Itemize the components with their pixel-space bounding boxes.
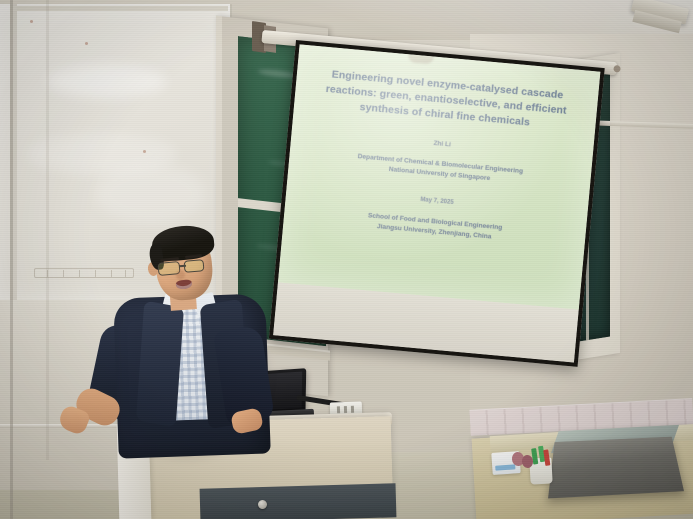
whiteboard-screw — [143, 150, 146, 153]
slide-author: Zhi Li — [433, 140, 451, 149]
slide-content: Engineering novel enzyme-catalysed casca… — [278, 44, 600, 310]
lectern-dark-panel — [200, 483, 397, 519]
presenter-nose — [176, 270, 185, 280]
whiteboard-smudge — [96, 164, 206, 224]
whiteboard-frame-top — [10, 6, 228, 11]
slide-date: May 7, 2025 — [420, 197, 454, 206]
presenter-lapel-left — [136, 301, 184, 428]
eyeglasses-right-lens — [184, 259, 205, 273]
whiteboard-smudge — [46, 64, 166, 98]
slide-affiliation: Department of Chemical & Biomolecular En… — [356, 152, 523, 188]
wall-seam — [10, 0, 13, 519]
lectern-lock-knob — [258, 500, 267, 509]
presenter — [92, 222, 312, 452]
wall-seam — [46, 0, 49, 460]
slide-surface: Engineering novel enzyme-catalysed casca… — [278, 44, 600, 310]
projection-screen: Engineering novel enzyme-catalysed casca… — [269, 40, 605, 367]
lecture-hall-photo: Engineering novel enzyme-catalysed casca… — [0, 0, 693, 519]
whiteboard-screw — [30, 20, 33, 23]
stone-slab — [548, 437, 684, 499]
slide-title: Engineering novel enzyme-catalysed casca… — [320, 67, 573, 135]
slide-host: School of Food and Biological Engineerin… — [366, 211, 502, 244]
whiteboard-screw — [85, 42, 88, 45]
